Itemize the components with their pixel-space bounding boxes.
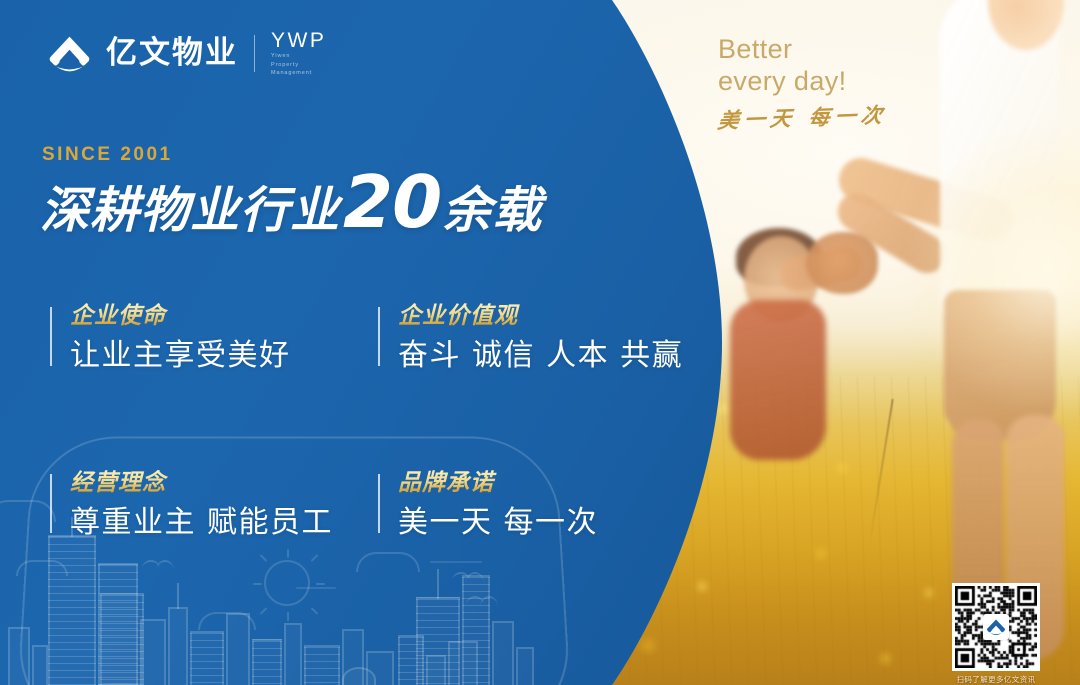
building — [462, 575, 490, 685]
value-block-mission: 企业使命 让业主享受美好 — [50, 303, 291, 374]
headline-part-a: 深耕物业行业 — [40, 171, 340, 242]
value-block-text: 尊重业主 赋能员工 — [70, 505, 333, 542]
qr-code-block[interactable]: 扫码了解更多亿文资讯 — [952, 583, 1040, 685]
building — [168, 607, 188, 685]
logo-divider — [254, 35, 255, 72]
adult-torso — [940, 0, 1060, 320]
child-body — [730, 300, 826, 460]
brand-abbr-group: YWP Yiwen Property Management — [271, 30, 326, 78]
building — [304, 645, 340, 685]
slogan-cn: 美一天 每一次 — [716, 99, 889, 135]
value-block-title: 企业价值观 — [398, 303, 683, 331]
value-block-title: 品牌承诺 — [398, 470, 598, 498]
building-spire — [177, 583, 179, 609]
headline-part-b: 余载 — [442, 171, 542, 242]
brand-abbr-sub-line1: Yiwen — [271, 52, 326, 61]
building — [226, 613, 250, 685]
qr-caption: 扫码了解更多亿文资讯 — [952, 674, 1040, 685]
headline-number: 20 — [343, 160, 441, 244]
brand-logo[interactable]: 亿文物业 YWP Yiwen Property Management — [46, 30, 326, 78]
slogan: Better every day! 美一天 每一次 — [718, 34, 886, 135]
poster-banner: Better every day! 美一天 每一次 — [0, 0, 1080, 685]
building — [48, 535, 96, 685]
building — [100, 593, 144, 685]
value-block-text: 美一天 每一次 — [398, 505, 598, 542]
brand-abbr: YWP — [271, 30, 326, 52]
qr-code[interactable] — [952, 583, 1040, 671]
building — [416, 597, 460, 685]
value-block-promise: 品牌承诺 美一天 每一次 — [378, 470, 598, 541]
brand-abbr-sub-line2: Property — [271, 61, 326, 70]
building — [516, 647, 534, 685]
building-spire — [437, 569, 439, 599]
slogan-en-line1: Better — [718, 34, 886, 66]
building — [342, 667, 376, 685]
building — [492, 621, 514, 685]
value-block-philosophy: 经营理念 尊重业主 赋能员工 — [50, 470, 333, 541]
blue-content-panel: 亿文物业 YWP Yiwen Property Management SINCE… — [0, 0, 740, 685]
brand-name-cn: 亿文物业 — [106, 38, 238, 69]
headline: 深耕物业行业 20 余载 — [40, 160, 542, 244]
building — [252, 639, 282, 685]
house-chevron-logo-icon — [985, 616, 1007, 638]
joined-hands — [806, 232, 878, 294]
building — [8, 627, 30, 685]
value-block-core-values: 企业价值观 奋斗 诚信 人本 共赢 — [378, 303, 683, 374]
building — [32, 645, 48, 685]
building — [190, 631, 224, 685]
value-block-text: 奋斗 诚信 人本 共赢 — [398, 338, 683, 375]
value-block-title: 企业使命 — [70, 303, 291, 331]
slogan-en-line2: every day! — [718, 66, 886, 98]
building — [284, 623, 302, 685]
qr-center-logo — [983, 614, 1009, 640]
brand-abbr-sub-line3: Management — [271, 69, 326, 78]
house-chevron-logo-icon — [46, 30, 93, 77]
value-block-title: 经营理念 — [70, 470, 333, 498]
value-block-text: 让业主享受美好 — [70, 338, 291, 375]
